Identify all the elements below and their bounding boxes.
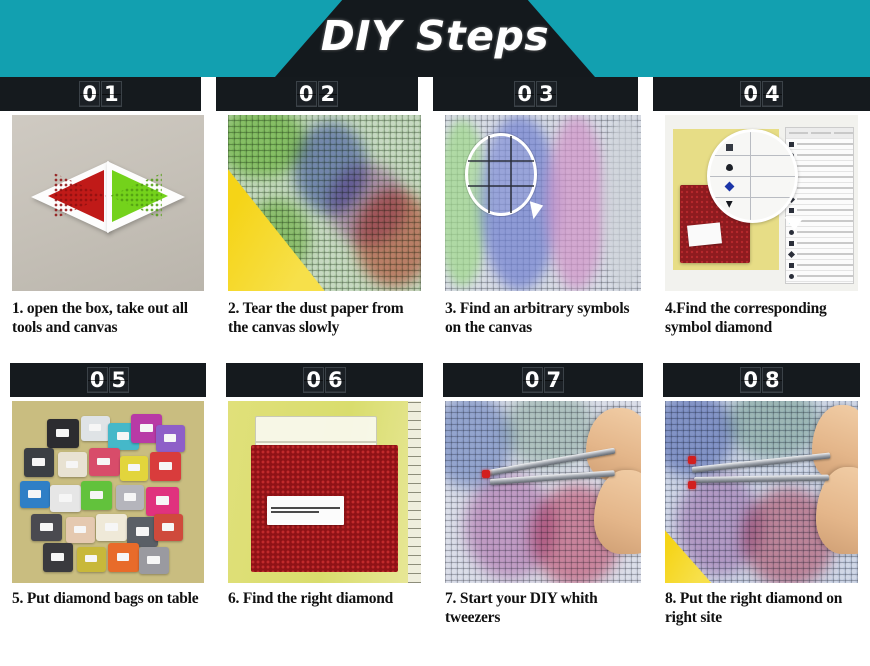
flap-digits-07: 07 [522, 367, 564, 393]
digit: 0 [740, 81, 761, 107]
step-panel-3: 3. Find an arbitrary symbols on the canv… [433, 111, 653, 363]
number-badge-04: 04 [653, 77, 870, 111]
diamond-bag [108, 543, 139, 572]
digit: 8 [762, 367, 783, 393]
legend-header-row [786, 128, 854, 139]
step-image-1 [12, 115, 204, 291]
number-badge-03: 03 [433, 77, 638, 111]
digit: 1 [101, 81, 122, 107]
number-badge-05: 05 [10, 363, 206, 397]
diamond-bag [116, 485, 145, 510]
legend-row [786, 139, 854, 150]
legend-row [786, 271, 854, 282]
step-image-3 [445, 115, 641, 291]
flap-digits-08: 08 [740, 367, 782, 393]
diamond-bag [154, 514, 183, 541]
bottom-margin [0, 640, 870, 666]
red-diamond-tip [688, 456, 696, 464]
symbol-legend-table [785, 127, 855, 284]
steps-row-2: 05 06 07 08 [0, 363, 870, 666]
flap-digits-06: 06 [303, 367, 345, 393]
diamond-bag [20, 481, 51, 508]
diamond-bag [120, 456, 149, 481]
digit: 2 [318, 81, 339, 107]
number-badge-07: 07 [443, 363, 643, 397]
flap-digits-03: 03 [514, 81, 556, 107]
digit: 0 [740, 367, 761, 393]
callout-bubble [465, 133, 538, 216]
legend-photo [665, 115, 858, 291]
diamond-bag [50, 485, 81, 512]
bubble-gridline [468, 185, 535, 187]
legend-row [786, 238, 854, 249]
tray-photo [12, 115, 204, 291]
diamond-bag [47, 419, 80, 448]
canvas-photo [228, 115, 421, 291]
diamond-bag [77, 547, 106, 572]
diamond-bag [31, 514, 62, 541]
step-caption-5: 5. Put diamond bags on table [12, 589, 210, 608]
red-diamond-tip [482, 470, 490, 478]
digit: 6 [325, 367, 346, 393]
step-panel-8: 8. Put the right diamond on right site [653, 397, 870, 666]
step-panel-6: 6. Find the right diamond [216, 397, 433, 666]
digit: 5 [109, 367, 130, 393]
step-panel-5: 5. Put diamond bags on table [0, 397, 216, 666]
diamond-bag [89, 448, 120, 475]
diamond-bag [43, 543, 74, 572]
digit: 0 [514, 81, 535, 107]
digit: 0 [87, 367, 108, 393]
steps-row-1: 01 02 03 04 [0, 77, 870, 363]
number-bar-gap [418, 77, 433, 111]
bags-pile-photo [12, 401, 204, 583]
diamond-bag [58, 452, 87, 477]
bubble-gridline [488, 136, 490, 213]
legend-row [786, 260, 854, 271]
digit: 7 [544, 367, 565, 393]
placing-diamond-photo [665, 401, 858, 583]
diamond-bag [150, 452, 181, 481]
diamond-bag [24, 448, 55, 477]
number-bar-row-1: 01 02 03 04 [0, 77, 870, 111]
step-panels-row-1: 1. open the box, take out all tools and … [0, 111, 870, 363]
number-bar-row-2: 05 06 07 08 [0, 363, 870, 397]
step-caption-4: 4.Find the corresponding symbol diamond [665, 299, 864, 337]
diamond-bag [96, 514, 127, 541]
flap-digits-05: 05 [87, 367, 129, 393]
legend-row [786, 249, 854, 260]
page-title: DIY Steps [275, 0, 595, 77]
red-diamond-placed [688, 481, 696, 489]
number-badge-08: 08 [663, 363, 860, 397]
step-image-7 [445, 401, 641, 583]
bubble-gridline [510, 136, 512, 213]
step-panels-row-2: 5. Put diamond bags on table [0, 397, 870, 666]
symbol-chart-photo [445, 115, 641, 291]
legend-row [786, 227, 854, 238]
flap-digits-02: 02 [296, 81, 338, 107]
step-caption-3: 3. Find an arbitrary symbols on the canv… [445, 299, 647, 337]
step-panel-1: 1. open the box, take out all tools and … [0, 111, 216, 363]
diamond-bag [81, 416, 110, 441]
step-caption-8: 8. Put the right diamond on right site [665, 589, 864, 627]
digit: 0 [303, 367, 324, 393]
digit: 3 [536, 81, 557, 107]
bag-label [267, 496, 344, 525]
diamond-bag [66, 517, 95, 542]
bag-label [687, 222, 722, 246]
red-bag-photo [228, 401, 421, 583]
step-caption-1: 1. open the box, take out all tools and … [12, 299, 210, 337]
diamond-bag [81, 481, 112, 510]
step-panel-2: 2. Tear the dust paper from the canvas s… [216, 111, 433, 363]
step-image-5 [12, 401, 204, 583]
ruler-edge [408, 401, 422, 583]
number-badge-06: 06 [226, 363, 423, 397]
flap-digits-04: 04 [740, 81, 782, 107]
number-badge-01: 01 [0, 77, 201, 111]
bubble-gridline [468, 160, 535, 162]
color-blotch [547, 115, 606, 291]
magnifier-callout [707, 129, 798, 223]
digit: 4 [762, 81, 783, 107]
step-panel-4: 4.Find the corresponding symbol diamond [653, 111, 870, 363]
zip-seal [256, 441, 376, 443]
diamond-bag [139, 547, 170, 574]
digit: 0 [79, 81, 100, 107]
header-banner: DIY Steps [0, 0, 870, 77]
digit: 0 [522, 367, 543, 393]
step-caption-7: 7. Start your DIY whith tweezers [445, 589, 647, 627]
step-panel-7: 7. Start your DIY whith tweezers [433, 397, 653, 666]
diamond-bag [146, 487, 179, 516]
step-image-2 [228, 115, 421, 291]
number-bar-gap [201, 77, 216, 111]
tweezers-photo [445, 401, 641, 583]
step-image-4 [665, 115, 858, 291]
step-caption-2: 2. Tear the dust paper from the canvas s… [228, 299, 427, 337]
number-bar-gap [638, 77, 653, 111]
legend-row [786, 150, 854, 161]
step-caption-6: 6. Find the right diamond [228, 589, 427, 608]
diamond-bag [156, 425, 185, 452]
header-plaque: DIY Steps [275, 0, 595, 77]
legend-row [786, 194, 854, 205]
diy-steps-infographic: DIY Steps 01 02 03 [0, 0, 870, 666]
step-image-6 [228, 401, 421, 583]
number-badge-02: 02 [216, 77, 418, 111]
step-image-8 [665, 401, 858, 583]
digit: 0 [296, 81, 317, 107]
flap-digits-01: 01 [79, 81, 121, 107]
